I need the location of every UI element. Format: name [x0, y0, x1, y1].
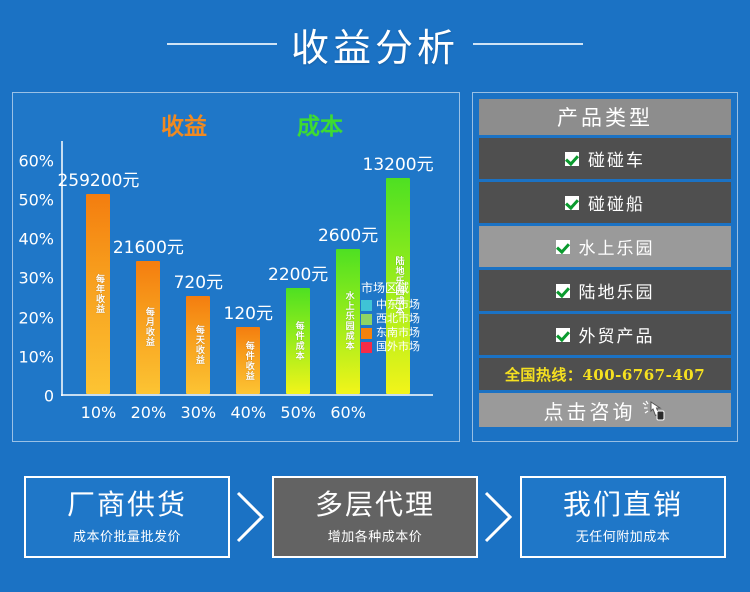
page-title: 收益分析	[291, 17, 459, 72]
bar-inner-label: 每件成本	[293, 321, 304, 361]
consult-label: 点击咨询	[544, 396, 636, 425]
legend-label: 国外市场	[376, 340, 420, 354]
market-legend-item[interactable]: 东南市场	[361, 326, 420, 340]
flow-step-subtitle: 无任何附加成本	[576, 526, 671, 545]
y-axis-tick: 30%	[18, 269, 54, 288]
infographic-root: 收益分析 收益 成本 010%20%30%40%50%60% 10%20%30%…	[0, 0, 750, 592]
x-axis-line	[61, 394, 433, 396]
bar-revenue[interactable]: 259200元每年收益	[86, 194, 110, 394]
bar-inner-label: 每天收益	[193, 325, 204, 365]
product-type-label: 外贸产品	[579, 322, 655, 347]
consult-button[interactable]: 点击咨询	[479, 393, 731, 427]
bar-value-label: 259200元	[57, 166, 139, 191]
product-type-item[interactable]: 外贸产品	[479, 314, 731, 355]
flow-step-title: 我们直销	[563, 489, 683, 520]
bar-slot: 21600元每月收益	[136, 261, 160, 394]
product-panel-header: 产品类型	[479, 99, 731, 135]
title-rule-left	[167, 43, 277, 45]
market-legend-item[interactable]: 中东市场	[361, 298, 420, 312]
x-axis-tick: 10%	[81, 403, 117, 422]
checkbox-checked-icon[interactable]	[565, 152, 579, 166]
product-type-label: 碰碰船	[588, 190, 645, 215]
product-type-label: 水上乐园	[579, 234, 655, 259]
x-axis-tick: 30%	[181, 403, 217, 422]
x-axis-tick: 50%	[280, 403, 316, 422]
hotline-banner: 全国热线：400-6767-407	[479, 358, 731, 390]
series-title-cost: 成本	[297, 107, 343, 141]
legend-label: 中东市场	[376, 298, 420, 312]
bar-value-label: 120元	[224, 299, 273, 324]
page-title-bar: 收益分析	[0, 14, 750, 74]
x-axis-tick: 60%	[330, 403, 366, 422]
y-axis-tick: 40%	[18, 230, 54, 249]
market-legend-item[interactable]: 西北市场	[361, 312, 420, 326]
bar-revenue[interactable]: 120元每件收益	[236, 327, 260, 394]
bar-inner-label: 水上乐园成本	[343, 291, 354, 351]
bar-inner-label: 每年收益	[93, 274, 104, 314]
series-title-revenue: 收益	[161, 107, 207, 141]
x-axis-tick: 40%	[230, 403, 266, 422]
checkbox-checked-icon[interactable]	[556, 284, 570, 298]
bar-revenue[interactable]: 21600元每月收益	[136, 261, 160, 394]
bar-cost[interactable]: 2600元水上乐园成本	[336, 249, 360, 394]
flow-step[interactable]: 我们直销无任何附加成本	[520, 476, 726, 558]
chevron-right-icon	[482, 489, 516, 545]
y-axis-tick: 60%	[18, 151, 54, 170]
bar-cost[interactable]: 2200元每件成本	[286, 288, 310, 394]
bar-inner-label: 每件收益	[243, 341, 254, 381]
flow-step-title: 多层代理	[315, 489, 435, 520]
supply-chain-flow: 厂商供货成本价批量批发价多层代理增加各种成本价我们直销无任何附加成本	[12, 462, 738, 572]
product-type-item[interactable]: 碰碰车	[479, 138, 731, 179]
legend-swatch-icon	[361, 300, 372, 311]
bar-value-label: 2200元	[268, 260, 328, 285]
bar-slot: 720元每天收益	[186, 296, 210, 394]
bar-slot: 2600元水上乐园成本	[336, 249, 360, 394]
y-axis-tick: 20%	[18, 308, 54, 327]
legend-label: 西北市场	[376, 312, 420, 326]
chart-panel: 收益 成本 010%20%30%40%50%60% 10%20%30%40%50…	[12, 92, 460, 442]
title-rule-right	[473, 43, 583, 45]
bar-value-label: 2600元	[318, 221, 378, 246]
bar-slot: 259200元每年收益	[86, 194, 110, 394]
bar-value-label: 13200元	[363, 150, 434, 175]
hand-pointer-icon	[641, 399, 667, 421]
market-legend-rows: 中东市场西北市场东南市场国外市场	[361, 298, 420, 354]
flow-step[interactable]: 多层代理增加各种成本价	[272, 476, 478, 558]
y-axis-tick: 10%	[18, 347, 54, 366]
y-axis-tick: 0	[44, 387, 54, 406]
market-legend-title: 市场区域	[361, 281, 420, 295]
bar-value-label: 720元	[174, 268, 223, 293]
product-type-item[interactable]: 陆地乐园	[479, 270, 731, 311]
product-type-panel: 产品类型 碰碰车碰碰船水上乐园陆地乐园外贸产品 全国热线：400-6767-40…	[472, 92, 738, 442]
bar-value-label: 21600元	[113, 233, 184, 258]
bar-slot: 2200元每件成本	[286, 288, 310, 394]
bar-inner-label: 每月收益	[143, 307, 154, 347]
product-type-label: 陆地乐园	[579, 278, 655, 303]
series-legend: 收益 成本	[13, 107, 459, 141]
legend-label: 东南市场	[376, 326, 420, 340]
product-type-label: 碰碰车	[588, 146, 645, 171]
product-type-list: 碰碰车碰碰船水上乐园陆地乐园外贸产品	[479, 138, 731, 355]
product-type-item[interactable]: 碰碰船	[479, 182, 731, 223]
market-legend-item[interactable]: 国外市场	[361, 340, 420, 354]
bar-revenue[interactable]: 720元每天收益	[186, 296, 210, 394]
chevron-right-icon	[234, 489, 268, 545]
checkbox-checked-icon[interactable]	[556, 328, 570, 342]
legend-swatch-icon	[361, 328, 372, 339]
legend-swatch-icon	[361, 314, 372, 325]
x-axis-tick: 20%	[131, 403, 167, 422]
flow-step-subtitle: 成本价批量批发价	[73, 526, 181, 545]
flow-step-subtitle: 增加各种成本价	[328, 526, 423, 545]
market-region-legend: 市场区域 中东市场西北市场东南市场国外市场	[361, 281, 420, 354]
legend-swatch-icon	[361, 342, 372, 353]
flow-step-title: 厂商供货	[67, 489, 187, 520]
bar-slot: 120元每件收益	[236, 327, 260, 394]
checkbox-checked-icon[interactable]	[556, 240, 570, 254]
flow-step[interactable]: 厂商供货成本价批量批发价	[24, 476, 230, 558]
checkbox-checked-icon[interactable]	[565, 196, 579, 210]
bar-chart-plot: 010%20%30%40%50%60% 10%20%30%40%50%60% 2…	[61, 141, 433, 396]
y-axis-tick: 50%	[18, 190, 54, 209]
product-type-item[interactable]: 水上乐园	[479, 226, 731, 267]
